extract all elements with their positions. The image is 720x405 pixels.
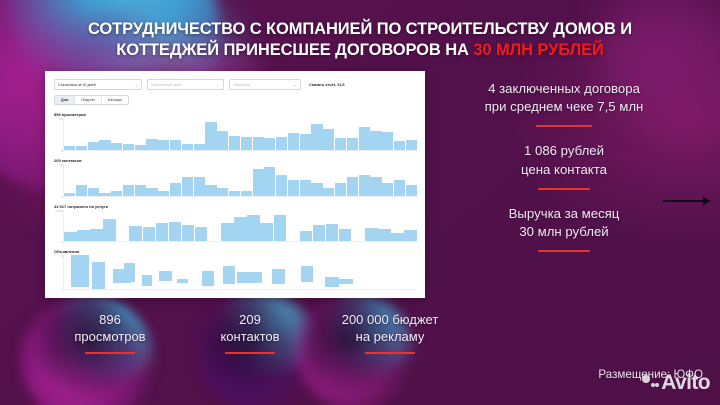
listing-block [237, 272, 262, 283]
chart-bar [182, 177, 193, 196]
spend-chart: 3 200 0 [54, 210, 417, 242]
locality-select-value: Населённый пункт [151, 83, 182, 87]
chart-bar [382, 132, 393, 150]
avito-wordmark: Avito [661, 372, 710, 393]
chart-bar [156, 223, 169, 241]
stat-contacts-value: 209 [180, 311, 320, 328]
listing-block [124, 263, 135, 282]
chart-bar [300, 231, 313, 241]
chart-bar [103, 219, 116, 241]
chart-bar [241, 191, 252, 196]
stat-views: 896 просмотров [40, 311, 180, 354]
highlight-revenue-line2: 30 млн рублей [432, 223, 696, 241]
stat-contacts-label: контактов [180, 328, 320, 345]
slide-canvas: СОТРУДНИЧЕСТВО С КОМПАНИЕЙ ПО СТРОИТЕЛЬС… [0, 0, 720, 405]
chart-bar [135, 145, 146, 150]
chart-bar [264, 167, 275, 196]
chart-bar [347, 138, 358, 150]
contacts-axis-min: 0 [61, 195, 63, 199]
chart-bar [264, 138, 275, 150]
chart-bar [205, 122, 216, 150]
chart-bar [370, 131, 381, 150]
chart-bar [194, 144, 205, 150]
chart-bar [229, 191, 240, 196]
chart-bar [88, 142, 99, 150]
chart-bar [276, 175, 287, 196]
chart-bar [158, 140, 169, 150]
tab-days[interactable]: Дни [55, 96, 75, 104]
chart-bar [370, 177, 381, 196]
period-select[interactable]: Статистика за 30 дней ⌄ [54, 79, 142, 90]
category-select[interactable]: Категория ⌄ [229, 79, 301, 90]
granularity-tabs: Дни Недели Месяцы [54, 95, 129, 105]
chart-bar [247, 215, 260, 241]
chart-bar [158, 191, 169, 196]
chart-bar [99, 140, 110, 150]
listing-block [142, 275, 153, 285]
views-axis-min: 0 [61, 149, 63, 153]
chart-bar [64, 232, 77, 241]
chevron-down-icon: ⌄ [217, 83, 220, 87]
title-highlight: 30 МЛН РУБЛЕЙ [473, 41, 603, 59]
chart-bar [359, 127, 370, 150]
stat-views-label: просмотров [40, 328, 180, 345]
chart-bar [274, 215, 287, 241]
chart-bar [76, 146, 87, 150]
stat-budget-label: на рекламу [320, 328, 460, 345]
summary-stats-row: 896 просмотров 209 контактов 200 000 бюд… [40, 311, 460, 354]
chart-bar [170, 183, 181, 196]
chart-bar [205, 185, 216, 196]
chart-bar [323, 188, 334, 196]
stat-budget-value: 200 000 бюджет [320, 311, 460, 328]
chart-bar [129, 226, 142, 241]
chart-bar [182, 225, 195, 241]
highlight-revenue-line1: Выручка за месяц [432, 205, 696, 223]
chart-bar [135, 185, 146, 196]
contacts-bar-series [64, 164, 417, 197]
chart-bar [335, 138, 346, 150]
chart-bar [391, 233, 404, 241]
views-section-label: 896 просмотров [54, 112, 417, 117]
chevron-down-icon: ⌄ [135, 83, 138, 87]
divider-rule [538, 250, 590, 252]
chart-bar [88, 188, 99, 196]
listings-axis-max: 4 [61, 254, 63, 258]
locality-select[interactable]: Населённый пункт ⌄ [147, 79, 224, 90]
chart-bar [64, 193, 75, 196]
title-line-1: СОТРУДНИЧЕСТВО С КОМПАНИЕЙ ПО СТРОИТЕЛЬС… [26, 19, 694, 40]
listing-block [339, 279, 353, 285]
chart-bar [217, 131, 228, 150]
views-axis-max: 50 [60, 117, 63, 121]
chart-bar [77, 230, 90, 241]
chart-bar [406, 140, 417, 150]
tab-months[interactable]: Месяцы [102, 96, 128, 104]
contacts-axis-max: 12 [60, 163, 63, 167]
chart-bar [347, 177, 358, 196]
stat-contacts: 209 контактов [180, 311, 320, 354]
listing-block [223, 266, 235, 284]
highlight-contracts: 4 заключенных договора при среднем чеке … [432, 80, 696, 116]
chart-bar [311, 183, 322, 196]
slide-title: СОТРУДНИЧЕСТВО С КОМПАНИЕЙ ПО СТРОИТЕЛЬС… [0, 19, 720, 61]
title-line-2-text: КОТТЕДЖЕЙ ПРИНЕСШЕЕ ДОГОВОРОВ НА [116, 41, 473, 59]
contacts-chart-axis: 12 0 [54, 164, 64, 197]
category-select-value: Категория [233, 83, 250, 87]
arrow-right-icon [663, 195, 711, 207]
listing-block [71, 255, 89, 287]
highlights-column: 4 заключенных договора при среднем чеке … [432, 80, 696, 267]
chart-bar [300, 180, 311, 196]
divider-rule [85, 352, 135, 354]
chart-bar [339, 229, 352, 241]
chart-bar [195, 227, 208, 241]
chart-bar [359, 175, 370, 196]
listing-block [177, 279, 188, 284]
chart-bar [64, 146, 75, 150]
chart-bar [404, 230, 417, 241]
stat-views-value: 896 [40, 311, 180, 328]
listings-block-series [64, 255, 417, 290]
stat-budget: 200 000 бюджет на рекламу [320, 311, 460, 354]
chart-bar [253, 137, 264, 150]
chart-bar [111, 143, 122, 150]
listings-chart: 4 1 [54, 255, 417, 290]
divider-rule [538, 188, 590, 190]
chart-bar [406, 185, 417, 196]
chart-bar [221, 223, 234, 241]
avito-statistics-dashboard: Статистика за 30 дней ⌄ Населённый пункт… [45, 71, 425, 298]
chart-bar [146, 139, 157, 150]
chart-bar [146, 188, 157, 196]
chevron-down-icon: ⌄ [294, 83, 297, 87]
spend-chart-axis: 3 200 0 [54, 210, 64, 242]
chart-bar [288, 133, 299, 150]
listing-block [159, 271, 171, 281]
chart-bar [365, 228, 378, 241]
views-chart: 50 0 [54, 118, 417, 151]
views-bar-series [64, 118, 417, 151]
highlight-contact-price: 1 086 рублей цена контакта [432, 142, 696, 178]
contacts-section-label: 209 контактов [54, 158, 417, 163]
download-report-link[interactable]: Скачать отчёт, XLS [309, 83, 345, 87]
chart-bar [229, 136, 240, 150]
chart-bar [326, 224, 339, 241]
spend-section-label: 44 517 потрачено на услуги [54, 204, 417, 209]
period-select-value: Статистика за 30 дней [58, 83, 96, 87]
chart-bar [169, 222, 182, 241]
dashboard-toolbar: Статистика за 30 дней ⌄ Населённый пункт… [54, 79, 417, 90]
highlight-contracts-line2: при среднем чеке 7,5 млн [432, 98, 696, 116]
spend-axis-min: 0 [61, 240, 63, 244]
divider-rule [536, 125, 592, 127]
chart-bar [111, 191, 122, 196]
listing-block [325, 277, 339, 287]
chart-bar [335, 183, 346, 196]
spend-bar-series [64, 210, 417, 242]
chart-bar [352, 240, 365, 241]
spend-axis-max: 3 200 [55, 209, 63, 213]
chart-bar [394, 141, 405, 150]
chart-bar [378, 229, 391, 241]
chart-bar [99, 193, 110, 196]
chart-bar [323, 129, 334, 150]
listing-block [272, 269, 284, 285]
tab-weeks[interactable]: Недели [75, 96, 101, 104]
chart-bar [287, 240, 300, 241]
chart-bar [76, 185, 87, 196]
chart-bar [276, 137, 287, 150]
highlight-contact-price-line2: цена контакта [432, 161, 696, 179]
chart-bar [234, 217, 247, 241]
chart-bar [382, 183, 393, 196]
chart-bar [116, 240, 129, 241]
highlight-contact-price-line1: 1 086 рублей [432, 142, 696, 160]
chart-bar [123, 144, 134, 150]
listing-block [301, 266, 313, 282]
listing-block [92, 262, 104, 289]
highlight-contracts-line1: 4 заключенных договора [432, 80, 696, 98]
chart-bar [300, 134, 311, 150]
chart-bar [288, 180, 299, 196]
chart-bar [217, 188, 228, 196]
chart-bar [311, 124, 322, 150]
chart-bar [182, 144, 193, 150]
divider-rule [365, 352, 415, 354]
contacts-chart: 12 0 [54, 164, 417, 197]
listings-section-label: Объявления [54, 249, 417, 254]
avito-dots-icon [642, 375, 659, 390]
listing-block [202, 271, 214, 286]
chart-bar [208, 240, 221, 241]
chart-bar [90, 229, 103, 241]
chart-bar [170, 140, 181, 150]
chart-bar [241, 137, 252, 150]
highlight-revenue: Выручка за месяц 30 млн рублей [432, 205, 696, 241]
title-line-2: КОТТЕДЖЕЙ ПРИНЕСШЕЕ ДОГОВОРОВ НА 30 МЛН … [26, 40, 694, 61]
chart-bar [313, 225, 326, 241]
chart-bar [123, 185, 134, 196]
chart-bar [143, 227, 156, 241]
chart-bar [394, 180, 405, 196]
chart-bar [260, 223, 273, 241]
listings-axis-min: 1 [61, 288, 63, 292]
chart-bar [194, 177, 205, 196]
listings-chart-axis: 4 1 [54, 255, 64, 290]
avito-watermark: Avito [642, 372, 710, 393]
divider-rule [225, 352, 275, 354]
chart-bar [253, 169, 264, 196]
views-chart-axis: 50 0 [54, 118, 64, 151]
